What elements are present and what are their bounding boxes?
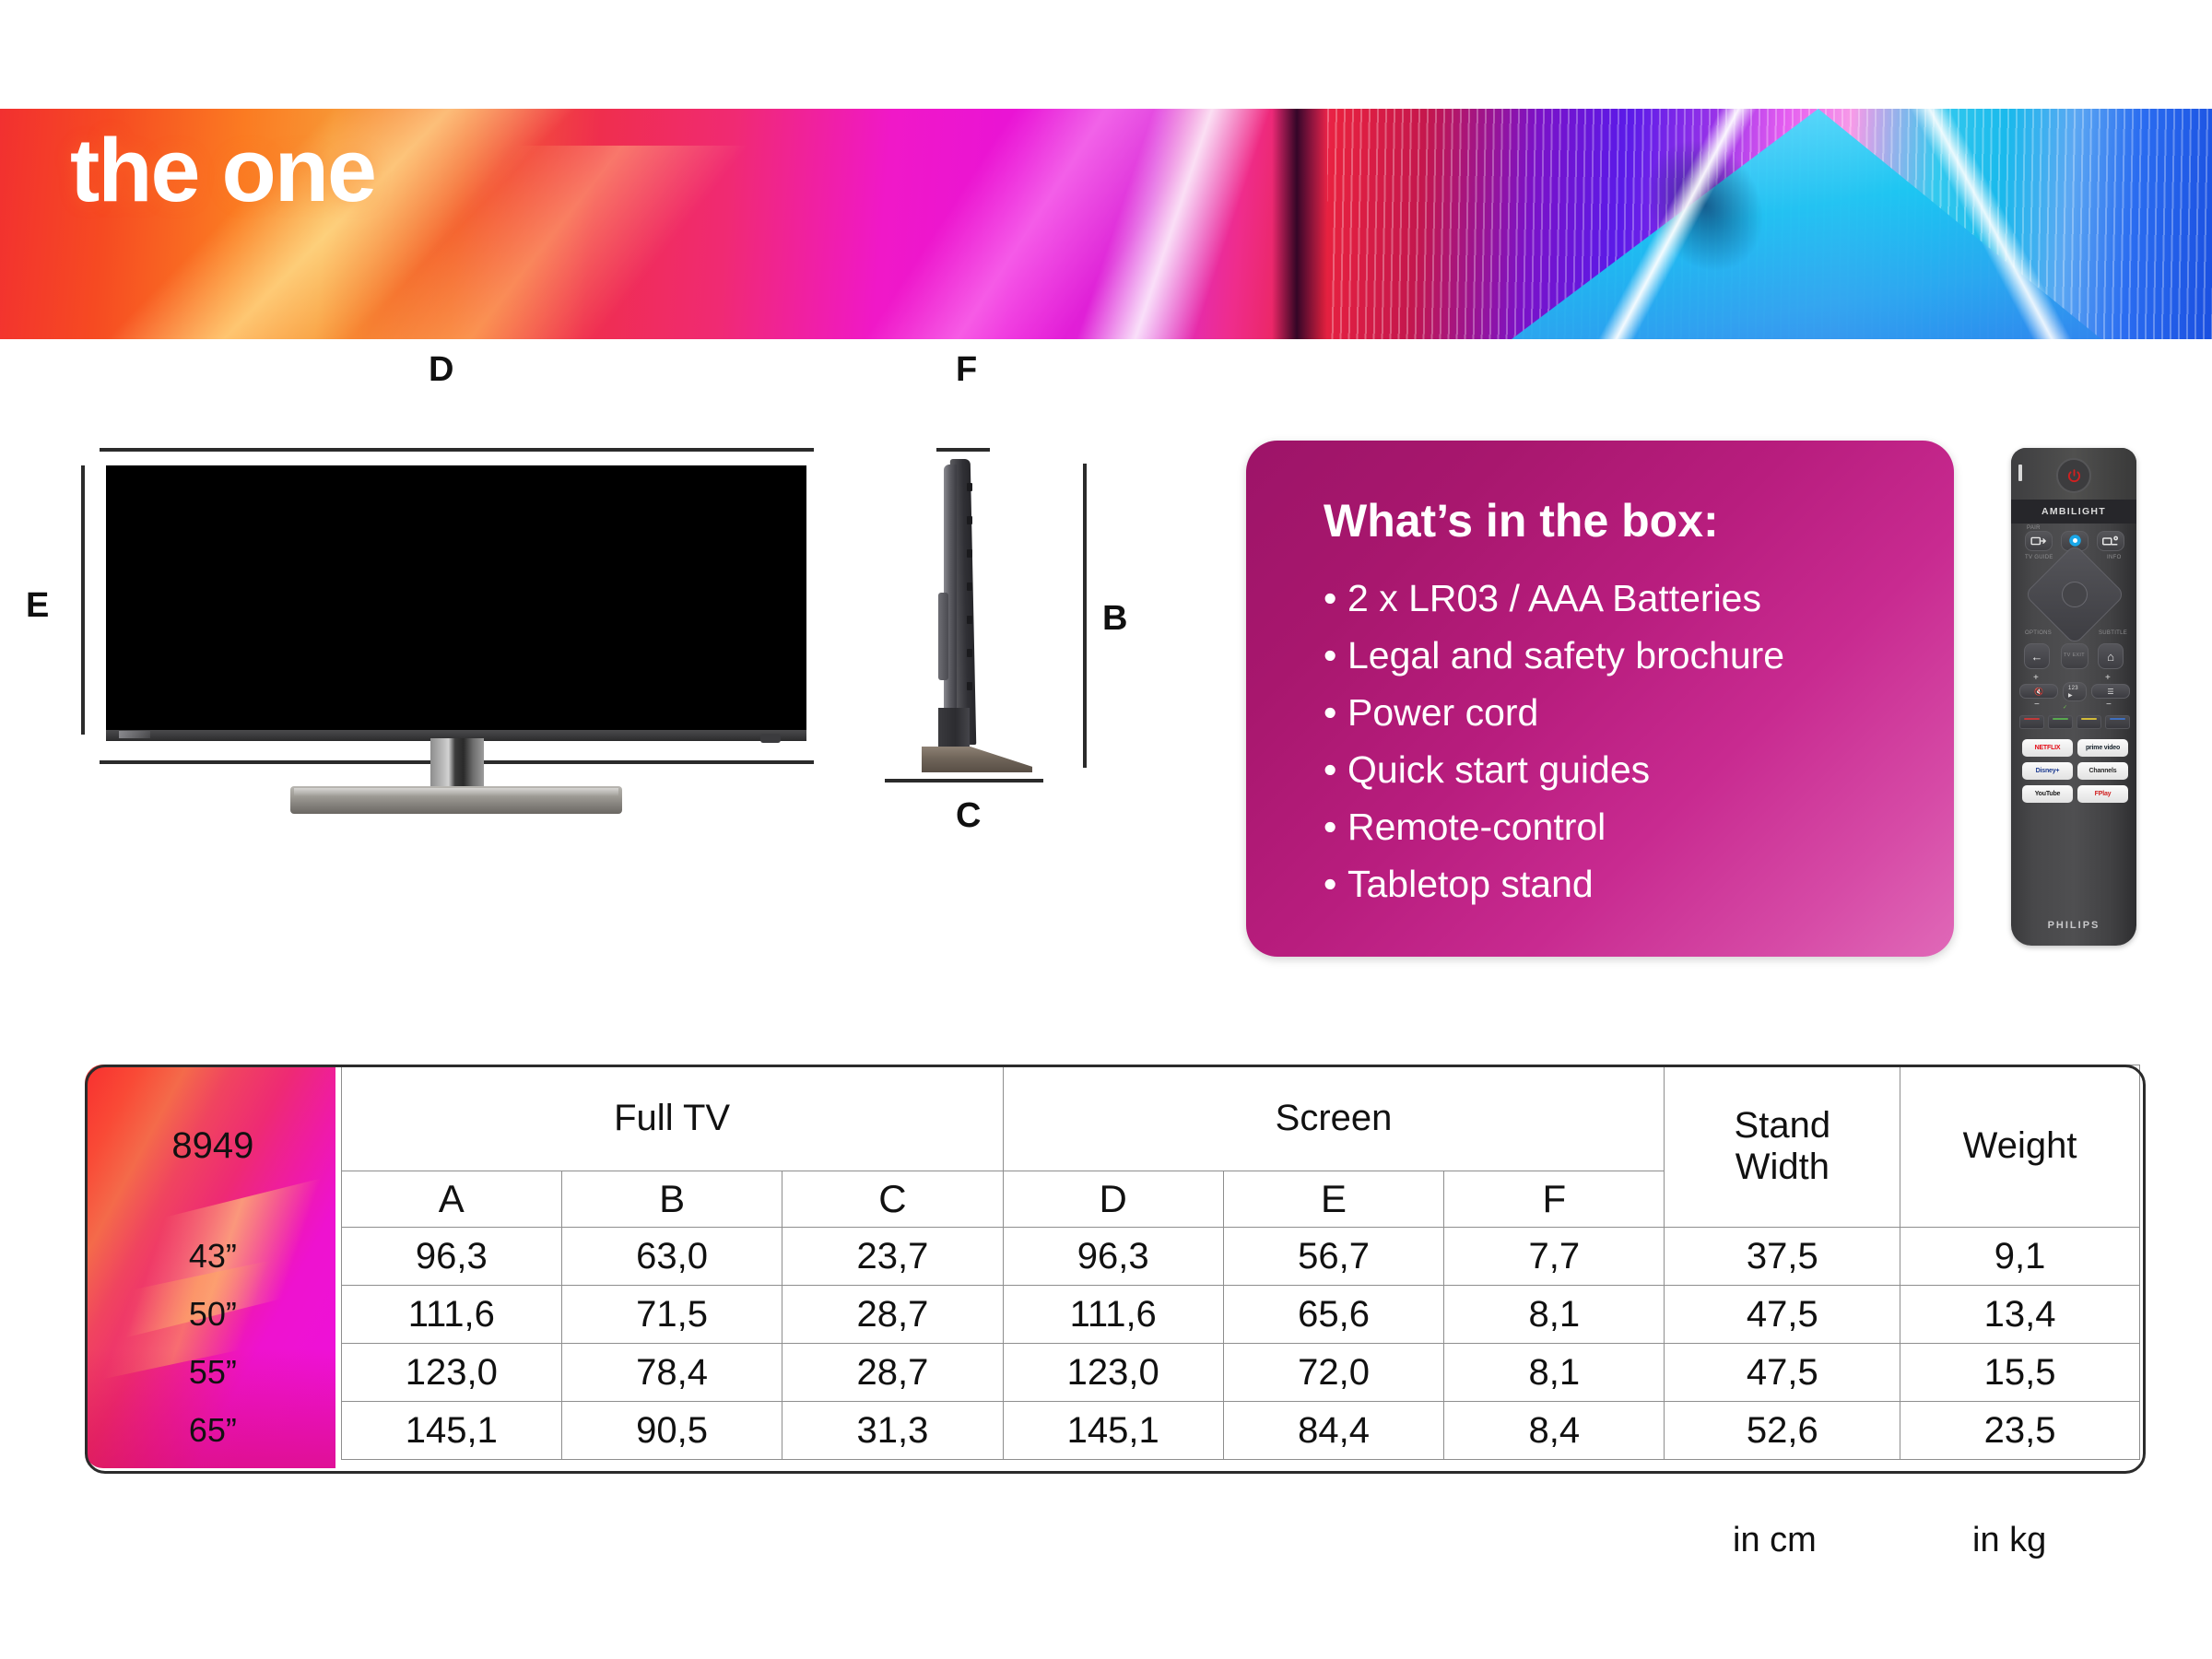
table-header-row-groups: 8949 Full TV Screen Stand Width Weight xyxy=(85,1065,2140,1171)
tv-stand-base-highlight xyxy=(294,788,618,796)
dimension-label-c: C xyxy=(956,798,981,833)
hero-banner: the one xyxy=(0,109,2212,339)
ambilight-label: AMBILIGHT xyxy=(2041,506,2106,517)
tv-side-port xyxy=(967,582,972,591)
volume-up-icon: + xyxy=(2033,674,2039,683)
column-header-f: F xyxy=(1444,1171,1665,1228)
subtitle-label: SUBTITLE xyxy=(2099,630,2127,636)
stand-width-line-2: Width xyxy=(1665,1147,1900,1188)
column-header-stand-width: Stand Width xyxy=(1665,1065,1900,1228)
dimension-label-d: D xyxy=(429,352,453,387)
channel-down-icon: − xyxy=(2106,700,2112,710)
row-size-label: 43” xyxy=(85,1228,341,1286)
tv-screen xyxy=(106,465,806,737)
netflix-app-button: NETFLIX xyxy=(2022,739,2073,757)
cell-a: 96,3 xyxy=(341,1228,561,1286)
row-size-label: 55” xyxy=(85,1344,341,1402)
green-indicator-icon: ✓ xyxy=(2063,704,2067,711)
cell-stand-width: 47,5 xyxy=(1665,1286,1900,1344)
column-header-c: C xyxy=(782,1171,1003,1228)
ir-receiver-icon xyxy=(760,734,781,743)
bullet-icon: • xyxy=(1324,627,1347,684)
cell-c: 28,7 xyxy=(782,1286,1003,1344)
tv-side-port xyxy=(967,549,972,558)
cell-a: 145,1 xyxy=(341,1402,561,1460)
list-item: •2 x LR03 / AAA Batteries xyxy=(1324,570,1784,627)
cell-d: 96,3 xyxy=(1003,1228,1223,1286)
banner-title: the one xyxy=(70,125,375,215)
unit-note-weight: in kg xyxy=(1972,1521,2046,1560)
tv-side-port xyxy=(967,516,972,524)
list-item: •Legal and safety brochure xyxy=(1324,627,1784,684)
banner-triangle-edge-right xyxy=(1806,109,2175,339)
dimension-label-e: E xyxy=(26,588,49,623)
power-button-icon xyxy=(2056,458,2091,493)
remote-control-image: AMBILIGHT PAIR TV GUIDE INFO OPTIONS SUB… xyxy=(2011,448,2136,946)
red-color-button xyxy=(2019,715,2044,729)
list-item-label: 2 x LR03 / AAA Batteries xyxy=(1347,577,1761,619)
stand-width-line-1: Stand xyxy=(1665,1105,1900,1147)
cell-e: 84,4 xyxy=(1223,1402,1443,1460)
column-header-weight: Weight xyxy=(1900,1065,2140,1228)
dimension-label-f: F xyxy=(956,352,977,387)
tv-exit-label: TV EXIT xyxy=(2064,653,2085,658)
prime-video-app-button: prime video xyxy=(2077,739,2128,757)
source-button-icon xyxy=(2025,531,2053,551)
tv-side-stand-base xyxy=(922,747,1032,772)
tv-stand-neck xyxy=(430,738,484,789)
whats-in-the-box-panel: What’s in the box: •2 x LR03 / AAA Batte… xyxy=(1246,441,1954,957)
tv-exit-button: TV EXIT xyxy=(2061,643,2088,669)
cell-d: 111,6 xyxy=(1003,1286,1223,1344)
column-header-b: B xyxy=(561,1171,782,1228)
home-button-icon: ⌂ xyxy=(2098,643,2124,669)
list-item-label: Tabletop stand xyxy=(1347,863,1594,905)
cell-weight: 13,4 xyxy=(1900,1286,2140,1344)
dimension-line-right-side xyxy=(1083,464,1087,768)
cell-stand-width: 37,5 xyxy=(1665,1228,1900,1286)
remote-indicator-bar xyxy=(2018,465,2022,481)
tv-side-connector-bump xyxy=(938,593,948,680)
tv-side-port xyxy=(967,682,972,690)
ok-button xyxy=(2062,582,2088,607)
netflix-label: NETFLIX xyxy=(2035,745,2061,751)
row-size-label: 50” xyxy=(85,1286,341,1344)
cell-weight: 23,5 xyxy=(1900,1402,2140,1460)
banner-triangle-edge-left xyxy=(1512,109,1843,339)
cell-f: 8,4 xyxy=(1444,1402,1665,1460)
volume-mute-button-icon: 🔇 xyxy=(2019,684,2058,699)
volume-down-icon: − xyxy=(2034,700,2040,710)
ambilight-settings-button-icon xyxy=(2097,531,2124,551)
cell-d: 145,1 xyxy=(1003,1402,1223,1460)
philips-brand-label: PHILIPS xyxy=(2011,920,2136,931)
prime-video-label: prime video xyxy=(2086,745,2120,751)
model-number-cell: 8949 xyxy=(85,1065,341,1228)
remote-top-strip xyxy=(2011,448,2136,500)
dimension-line-top-front xyxy=(100,448,814,452)
tv-side-view xyxy=(922,459,1023,782)
cell-stand-width: 52,6 xyxy=(1665,1402,1900,1460)
cell-b: 63,0 xyxy=(561,1228,782,1286)
cell-b: 78,4 xyxy=(561,1344,782,1402)
cell-f: 8,1 xyxy=(1444,1344,1665,1402)
row-size-label: 65” xyxy=(85,1402,341,1460)
tv-side-port xyxy=(967,649,972,657)
disney-plus-app-button: Disney+ xyxy=(2022,762,2073,780)
cell-e: 72,0 xyxy=(1223,1344,1443,1402)
dimension-label-b: B xyxy=(1102,601,1127,636)
channel-list-button-icon: ☰ xyxy=(2091,684,2130,699)
table-row: 65” 145,1 90,5 31,3 145,1 84,4 8,4 52,6 … xyxy=(85,1402,2140,1460)
bullet-icon: • xyxy=(1324,684,1347,741)
bullet-icon: • xyxy=(1324,855,1347,912)
cell-f: 7,7 xyxy=(1444,1228,1665,1286)
cell-c: 28,7 xyxy=(782,1344,1003,1402)
cell-a: 111,6 xyxy=(341,1286,561,1344)
list-item-label: Remote-control xyxy=(1347,806,1606,848)
cell-b: 71,5 xyxy=(561,1286,782,1344)
list-item: •Quick start guides xyxy=(1324,741,1784,798)
whats-in-the-box-title: What’s in the box: xyxy=(1324,494,1719,547)
product-dimension-diagram: D E A F B C xyxy=(0,369,1235,1032)
cell-a: 123,0 xyxy=(341,1344,561,1402)
group-header-screen: Screen xyxy=(1003,1065,1665,1171)
column-header-a: A xyxy=(341,1171,561,1228)
youtube-label: YouTube xyxy=(2035,791,2061,797)
tv-front-view xyxy=(106,465,806,765)
list-item: •Tabletop stand xyxy=(1324,855,1784,912)
cell-f: 8,1 xyxy=(1444,1286,1665,1344)
channel-up-icon: + xyxy=(2105,674,2111,683)
specifications-table: 8949 Full TV Screen Stand Width Weight A… xyxy=(85,1065,2140,1460)
cell-stand-width: 47,5 xyxy=(1665,1344,1900,1402)
dpad-navigation-button xyxy=(2031,551,2116,636)
specifications-table-wrapper: 8949 Full TV Screen Stand Width Weight A… xyxy=(85,1065,2140,1470)
list-item-label: Power cord xyxy=(1347,691,1538,734)
tv-side-port xyxy=(967,483,972,491)
cell-b: 90,5 xyxy=(561,1402,782,1460)
cell-c: 23,7 xyxy=(782,1228,1003,1286)
dimension-line-left-front xyxy=(81,465,85,735)
group-header-full-tv: Full TV xyxy=(341,1065,1003,1171)
column-header-e: E xyxy=(1223,1171,1443,1228)
table-row: 55” 123,0 78,4 28,7 123,0 72,0 8,1 47,5 … xyxy=(85,1344,2140,1402)
list-item-label: Quick start guides xyxy=(1347,748,1650,791)
table-row: 43” 96,3 63,0 23,7 96,3 56,7 7,7 37,5 9,… xyxy=(85,1228,2140,1286)
list-item-label: Legal and safety brochure xyxy=(1347,634,1784,677)
tv-side-port xyxy=(967,616,972,624)
cell-d: 123,0 xyxy=(1003,1344,1223,1402)
dimension-line-top-side xyxy=(936,448,990,452)
unit-note-length: in cm xyxy=(1733,1521,1817,1560)
bullet-icon: • xyxy=(1324,741,1347,798)
cell-c: 31,3 xyxy=(782,1402,1003,1460)
list-item: •Remote-control xyxy=(1324,798,1784,855)
cell-e: 65,6 xyxy=(1223,1286,1443,1344)
list-item: •Power cord xyxy=(1324,684,1784,741)
numeric-label: 123 xyxy=(2068,686,2078,691)
numeric-sub-icon: ▶ xyxy=(2068,692,2073,699)
whats-in-the-box-list: •2 x LR03 / AAA Batteries •Legal and saf… xyxy=(1324,570,1784,912)
channels-app-button: Channels xyxy=(2077,762,2128,780)
fplay-app-button: FPlay xyxy=(2077,785,2128,803)
options-label: OPTIONS xyxy=(2025,630,2052,636)
channels-label: Channels xyxy=(2089,768,2117,774)
philips-logo-on-tv xyxy=(119,731,150,738)
cell-e: 56,7 xyxy=(1223,1228,1443,1286)
cell-weight: 9,1 xyxy=(1900,1228,2140,1286)
youtube-app-button: YouTube xyxy=(2022,785,2073,803)
back-button-icon: ← xyxy=(2024,643,2050,669)
cell-weight: 15,5 xyxy=(1900,1344,2140,1402)
fplay-label: FPlay xyxy=(2095,791,2112,797)
column-header-d: D xyxy=(1003,1171,1223,1228)
banner-dark-seam xyxy=(1272,109,1327,339)
bullet-icon: • xyxy=(1324,570,1347,627)
ambilight-button: AMBILIGHT xyxy=(2011,500,2136,524)
bullet-icon: • xyxy=(1324,798,1347,855)
disney-label: Disney+ xyxy=(2036,768,2060,774)
numeric-keypad-button: 123 ▶ xyxy=(2063,682,2087,701)
table-row: 50” 111,6 71,5 28,7 111,6 65,6 8,1 47,5 … xyxy=(85,1286,2140,1344)
blue-color-button xyxy=(2105,715,2130,729)
green-color-button xyxy=(2048,715,2073,729)
yellow-color-button xyxy=(2077,715,2101,729)
